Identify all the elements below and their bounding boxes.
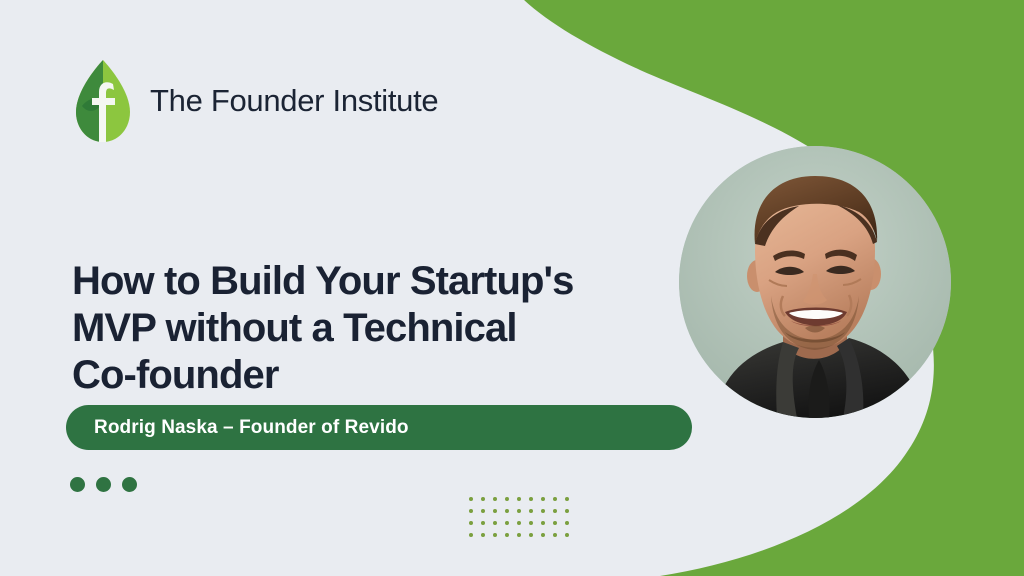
dot-decoration bbox=[70, 477, 85, 492]
grid-dot-decoration bbox=[481, 533, 485, 537]
dot-grid-decoration bbox=[465, 493, 573, 541]
page-title: How to Build Your Startup's MVP without … bbox=[72, 258, 632, 399]
grid-dot-decoration bbox=[505, 521, 509, 525]
dot-decoration bbox=[96, 477, 111, 492]
grid-dot-decoration bbox=[541, 521, 545, 525]
grid-dot-decoration bbox=[517, 521, 521, 525]
dot-decoration bbox=[122, 477, 137, 492]
grid-dot-decoration bbox=[493, 509, 497, 513]
grid-dot-decoration bbox=[553, 533, 557, 537]
grid-dot-decoration bbox=[529, 521, 533, 525]
speaker-banner: Rodrig Naska – Founder of Revido bbox=[66, 405, 692, 450]
grid-dot-decoration bbox=[469, 497, 473, 501]
grid-dot-decoration bbox=[553, 497, 557, 501]
headline-line-3: Co-founder bbox=[72, 352, 632, 399]
grid-dot-decoration bbox=[493, 521, 497, 525]
speaker-banner-label: Rodrig Naska – Founder of Revido bbox=[94, 417, 409, 439]
dot-trio-decoration bbox=[70, 477, 137, 492]
grid-dot-decoration bbox=[529, 533, 533, 537]
grid-dot-decoration bbox=[541, 497, 545, 501]
grid-dot-decoration bbox=[481, 521, 485, 525]
grid-dot-decoration bbox=[517, 509, 521, 513]
grid-dot-decoration bbox=[481, 509, 485, 513]
brand-logo-lockup: The Founder Institute bbox=[72, 58, 438, 144]
speaker-avatar bbox=[679, 146, 951, 418]
brand-name: The Founder Institute bbox=[150, 83, 438, 119]
grid-dot-decoration bbox=[541, 533, 545, 537]
grid-dot-decoration bbox=[565, 533, 569, 537]
grid-dot-decoration bbox=[541, 509, 545, 513]
grid-dot-decoration bbox=[493, 533, 497, 537]
grid-dot-decoration bbox=[553, 521, 557, 525]
grid-dot-decoration bbox=[565, 497, 569, 501]
grid-dot-decoration bbox=[565, 521, 569, 525]
grid-dot-decoration bbox=[469, 509, 473, 513]
grid-dot-decoration bbox=[469, 533, 473, 537]
grid-dot-decoration bbox=[517, 533, 521, 537]
grid-dot-decoration bbox=[565, 509, 569, 513]
slide-canvas: The Founder Institute How to Build Your … bbox=[0, 0, 1024, 576]
grid-dot-decoration bbox=[529, 497, 533, 501]
grid-dot-decoration bbox=[505, 509, 509, 513]
grid-dot-decoration bbox=[529, 509, 533, 513]
grid-dot-decoration bbox=[505, 533, 509, 537]
speaker-photo bbox=[679, 146, 951, 418]
grid-dot-decoration bbox=[553, 509, 557, 513]
grid-dot-decoration bbox=[469, 521, 473, 525]
headline-line-1: How to Build Your Startup's bbox=[72, 258, 632, 305]
headline-line-2: MVP without a Technical bbox=[72, 305, 632, 352]
grid-dot-decoration bbox=[481, 497, 485, 501]
grid-dot-decoration bbox=[505, 497, 509, 501]
grid-dot-decoration bbox=[517, 497, 521, 501]
grid-dot-decoration bbox=[493, 497, 497, 501]
leaf-f-logo-icon bbox=[72, 58, 134, 144]
